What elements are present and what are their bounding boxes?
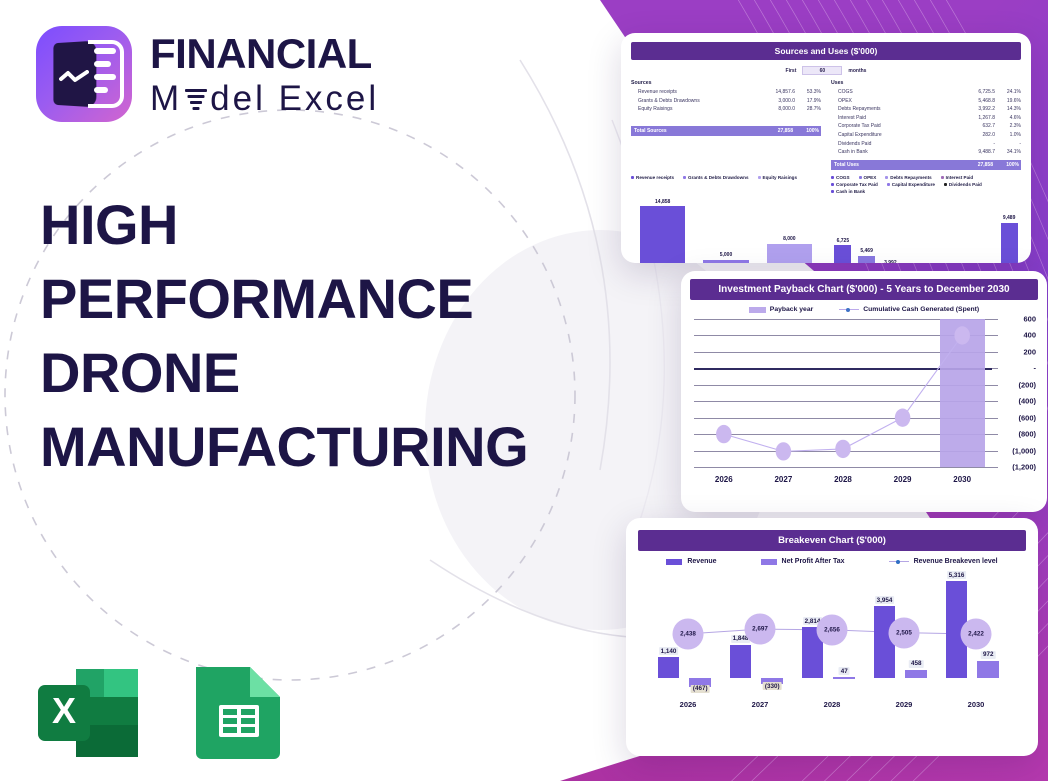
uses-row-pct: 19.6%: [995, 97, 1021, 106]
legend-swatch-icon: [887, 183, 890, 186]
breakeven-level-bubble: 2,505: [889, 617, 920, 648]
bar-value-label: 6,725: [837, 238, 850, 244]
uses-legend-item: Debts Repayments: [885, 175, 931, 180]
brand-lockup: FINANCIAL M del Excel: [36, 26, 379, 122]
card-title-breakeven: Breakeven Chart ($'000): [638, 530, 1026, 551]
sources-row-label: Equity Raisings: [638, 105, 759, 114]
sources-legend-item: Grants & Debts Drawdowns: [683, 175, 749, 180]
net-profit-after-tax-bar: (467): [689, 678, 711, 687]
sources-row-pct: 28.7%: [795, 105, 821, 114]
bar-value-label: 14,858: [655, 199, 670, 205]
card-title-sources-uses: Sources and Uses ($'000): [631, 42, 1021, 60]
breakeven-legend-label: Revenue: [687, 558, 716, 565]
uses-row-pct: 34.1%: [995, 148, 1021, 157]
y-axis-tick: [992, 368, 998, 369]
uses-column: Uses COGS6,725.524.1%OPEX5,468.819.6%Deb…: [831, 80, 1021, 170]
uses-row-label: Debts Repayments: [838, 105, 959, 114]
logo-lines-glyph-icon: [183, 84, 209, 110]
uses-row-amount: 632.7: [959, 122, 995, 131]
legend-bar-swatch-icon: [761, 559, 777, 565]
uses-row-label: Cash in Bank: [838, 148, 959, 157]
uses-row: Debts Repayments3,992.214.3%: [831, 105, 1021, 114]
npat-value-label: 458: [909, 660, 924, 668]
sources-row-label: Revenue receipts: [638, 88, 759, 97]
uses-row: Interest Paid1,267.84.6%: [831, 114, 1021, 123]
x-axis-label: 2027: [724, 700, 796, 709]
payback-legend-item: Cumulative Cash Generated (Spent): [839, 306, 979, 313]
npat-value-label: (330): [763, 682, 782, 690]
bar-column: 6,725: [831, 207, 855, 263]
payback-legend-label: Cumulative Cash Generated (Spent): [863, 306, 979, 313]
y-axis-tick: [992, 352, 998, 353]
uses-legend-item: COGS: [831, 175, 850, 180]
brand-name-bottom-pre: M: [150, 81, 182, 116]
uses-row-pct: -: [995, 140, 1021, 149]
uses-row-pct: 4.6%: [995, 114, 1021, 123]
sources-legend-label: Grants & Debts Drawdowns: [688, 175, 749, 180]
y-axis-tick-label: -: [1034, 364, 1037, 373]
brand-name-bottom: M del Excel: [150, 81, 379, 116]
uses-bar-chart: 6,7255,4693,9921,26863328209,489: [831, 197, 1021, 263]
y-axis-tick-label: (200): [1018, 380, 1036, 389]
revenue-value-label: 5,316: [947, 571, 967, 579]
sources-total-amount: 27,858: [757, 128, 793, 134]
breakeven-legend-label: Revenue Breakeven level: [914, 558, 998, 565]
legend-swatch-icon: [758, 176, 761, 179]
uses-row: Corporate Tax Paid632.72.3%: [831, 122, 1021, 131]
svg-text:X: X: [52, 690, 76, 731]
bar-column: 8,000: [758, 193, 821, 263]
uses-legend-item: Corporate Tax Paid: [831, 182, 878, 187]
payback-legend-label: Payback year: [770, 306, 813, 313]
uses-chart-legend: COGSOPEXDebts RepaymentsInterest PaidCor…: [831, 175, 1021, 194]
npat-value-label: (467): [691, 685, 710, 693]
x-axis-label: 2029: [873, 475, 933, 484]
payback-data-point: [835, 440, 850, 458]
google-sheets-icon[interactable]: [182, 665, 286, 761]
sources-chart-block: Revenue receiptsGrants & Debts Drawdowns…: [631, 175, 821, 263]
uses-row-amount: 282.0: [959, 131, 995, 140]
y-axis-tick: [992, 467, 998, 468]
revenue-bar: 1,140: [658, 657, 680, 678]
y-axis-tick-label: (600): [1018, 413, 1036, 422]
uses-legend-label: Interest Paid: [946, 175, 974, 180]
breakeven-group: 1,848(330)2,697: [724, 569, 796, 691]
uses-row-label: Interest Paid: [838, 114, 959, 123]
brand-name-bottom-post: del Excel: [210, 81, 379, 116]
breakeven-legend-item: Revenue: [666, 558, 716, 565]
period-selector-row: First 60 months: [631, 66, 1021, 75]
x-axis-label: 2030: [932, 475, 992, 484]
period-prefix-label: First: [786, 68, 797, 74]
net-profit-after-tax-bar: 47: [833, 677, 855, 679]
bar-column: 282: [950, 207, 974, 263]
legend-swatch-icon: [941, 176, 944, 179]
npat-value-label: 972: [981, 651, 996, 659]
uses-row-label: OPEX: [838, 97, 959, 106]
legend-swatch-icon: [859, 176, 862, 179]
sources-row: Equity Raisings8,000.028.7%: [631, 105, 821, 114]
uses-row-label: Dividends Paid: [838, 140, 959, 149]
uses-row-amount: 5,468.8: [959, 97, 995, 106]
breakeven-legend-label: Net Profit After Tax: [782, 558, 845, 565]
x-axis-label: 2026: [652, 700, 724, 709]
y-axis-tick-label: (800): [1018, 430, 1036, 439]
sources-column: Sources Revenue receipts14,857.653.3%Gra…: [631, 80, 821, 170]
bar-column: 3,992: [879, 207, 903, 263]
y-axis-tick: [992, 335, 998, 336]
legend-bar-swatch-icon: [666, 559, 682, 565]
slide-canvas: FINANCIAL M del Excel HIGH PERFORMANCE D…: [0, 0, 1048, 781]
payback-chart-legend: Payback yearCumulative Cash Generated (S…: [690, 306, 1038, 313]
payback-y-axis: 600400200-(200)(400)(600)(800)(1,000)(1,…: [992, 319, 1036, 467]
uses-row: Cash in Bank9,488.734.1%: [831, 148, 1021, 157]
microsoft-excel-icon[interactable]: X: [36, 665, 140, 761]
bar-value-label: 8,000: [783, 236, 796, 242]
breakeven-group: 1,140(467)2,438: [652, 569, 724, 691]
cumulative-cash-line: [694, 319, 992, 467]
y-axis-tick-label: (1,200): [1012, 463, 1036, 472]
x-axis-label: 2029: [868, 700, 940, 709]
breakeven-chart-plot: 1,140(467)2,4381,848(330)2,6972,814472,6…: [652, 569, 1012, 691]
sources-total-pct: 100%: [793, 128, 819, 134]
sources-row: Grants & Debts Drawdowns3,000.017.9%: [631, 97, 821, 106]
y-axis-tick-label: 400: [1023, 331, 1036, 340]
legend-swatch-icon: [631, 176, 634, 179]
sources-header: Sources: [631, 80, 821, 86]
breakeven-card[interactable]: Breakeven Chart ($'000) RevenueNet Profi…: [626, 518, 1038, 756]
breakeven-level-bubble: 2,656: [817, 614, 848, 645]
sources-rows: Revenue receipts14,857.653.3%Grants & De…: [631, 88, 821, 114]
uses-total-pct: 100%: [993, 162, 1019, 168]
uses-rows: COGS6,725.524.1%OPEX5,468.819.6%Debts Re…: [831, 88, 1021, 157]
uses-row-amount: 1,267.8: [959, 114, 995, 123]
payback-x-axis-labels: 20262027202820292030: [694, 475, 992, 484]
uses-row-pct: 14.3%: [995, 105, 1021, 114]
legend-bar-swatch-icon: [749, 307, 766, 313]
spark-line-icon: [59, 70, 89, 84]
sources-legend-item: Revenue receipts: [631, 175, 674, 180]
period-months-input[interactable]: 60: [802, 66, 842, 75]
bar-column: 9,489: [997, 207, 1021, 263]
uses-legend-label: Capital Expenditure: [892, 182, 935, 187]
y-axis-tick: [992, 401, 998, 402]
breakeven-group: 3,9544582,505: [868, 569, 940, 691]
sources-chart-legend: Revenue receiptsGrants & Debts Drawdowns…: [631, 175, 821, 180]
breakeven-group: 5,3169722,422: [940, 569, 1012, 691]
page-title: HIGH PERFORMANCE DRONE MANUFACTURING: [40, 188, 540, 484]
payback-data-point: [776, 442, 791, 460]
net-profit-after-tax-bar: (330): [761, 678, 783, 684]
revenue-value-label: 3,954: [875, 596, 895, 604]
card-title-payback: Investment Payback Chart ($'000) - 5 Yea…: [690, 279, 1038, 300]
sources-row-label: Grants & Debts Drawdowns: [638, 97, 759, 106]
breakeven-level-bubble: 2,438: [673, 618, 704, 649]
x-axis-label: 2027: [754, 475, 814, 484]
legend-swatch-icon: [885, 176, 888, 179]
bar-column: 1,268: [902, 207, 926, 263]
sources-and-uses-card[interactable]: Sources and Uses ($'000) First 60 months…: [621, 33, 1031, 263]
payback-data-point: [895, 408, 910, 426]
y-axis-tick: [992, 451, 998, 452]
bar-column: 633: [926, 207, 950, 263]
uses-legend-item: Cash in Bank: [831, 189, 865, 194]
sources-legend-label: Revenue receipts: [636, 175, 674, 180]
sources-bar-chart: 14,8585,0008,000: [631, 183, 821, 263]
logo-lines-icon: [94, 48, 120, 102]
uses-row-pct: 24.1%: [995, 88, 1021, 97]
payback-legend-item: Payback year: [749, 306, 813, 313]
uses-row-amount: -: [959, 140, 995, 149]
legend-swatch-icon: [831, 190, 834, 193]
bar-value-label: 5,469: [860, 248, 873, 254]
payback-chart-plot: 600400200-(200)(400)(600)(800)(1,000)(1,…: [694, 319, 992, 467]
brand-name-top: FINANCIAL: [150, 33, 379, 75]
revenue-bar: 1,848: [730, 645, 752, 679]
bar: [640, 206, 686, 263]
uses-row-pct: 1.0%: [995, 131, 1021, 140]
uses-row-amount: 3,992.2: [959, 105, 995, 114]
y-axis-tick-label: 200: [1023, 347, 1036, 356]
breakeven-level-bubble: 2,697: [745, 614, 776, 645]
bar-value-label: 9,489: [1003, 215, 1016, 221]
financial-model-document-icon: [36, 26, 132, 122]
uses-total-label: Total Uses: [834, 162, 957, 168]
investment-payback-card[interactable]: Investment Payback Chart ($'000) - 5 Yea…: [681, 271, 1047, 512]
x-axis-label: 2030: [940, 700, 1012, 709]
sources-total-label: Total Sources: [634, 128, 757, 134]
file-format-icons: X: [36, 665, 286, 761]
uses-row: Dividends Paid--: [831, 140, 1021, 149]
legend-swatch-icon: [831, 183, 834, 186]
legend-line-swatch-icon: [839, 307, 859, 313]
y-axis-tick-label: (1,000): [1012, 446, 1036, 455]
uses-chart-block: COGSOPEXDebts RepaymentsInterest PaidCor…: [831, 175, 1021, 263]
uses-row-label: Capital Expenditure: [838, 131, 959, 140]
x-axis-label: 2026: [694, 475, 754, 484]
y-axis-tick-label: 600: [1023, 315, 1036, 324]
bar-column: 14,858: [631, 193, 694, 263]
breakeven-x-axis-labels: 20262027202820292030: [652, 700, 1012, 709]
uses-legend-label: Debts Repayments: [890, 175, 931, 180]
sources-spacer: [631, 114, 821, 123]
bar-column: 5,000: [694, 193, 757, 263]
uses-row: OPEX5,468.819.6%: [831, 97, 1021, 106]
x-axis-label: 2028: [813, 475, 873, 484]
uses-legend-item: Capital Expenditure: [887, 182, 935, 187]
uses-row-pct: 2.3%: [995, 122, 1021, 131]
payback-line-path: [724, 335, 962, 451]
uses-legend-label: OPEX: [864, 175, 877, 180]
uses-total-row: Total Uses 27,858 100%: [831, 160, 1021, 170]
sources-legend-item: Equity Raisings: [758, 175, 797, 180]
uses-header: Uses: [831, 80, 1021, 86]
net-profit-after-tax-bar: 972: [977, 661, 999, 679]
breakeven-chart-legend: RevenueNet Profit After TaxRevenue Break…: [638, 558, 1026, 565]
breakeven-group: 2,814472,656: [796, 569, 868, 691]
sources-row-pct: 53.3%: [795, 88, 821, 97]
legend-swatch-icon: [944, 183, 947, 186]
sources-row: Revenue receipts14,857.653.3%: [631, 88, 821, 97]
uses-legend-item: Interest Paid: [941, 175, 974, 180]
payback-data-point: [716, 425, 731, 443]
uses-row-amount: 9,488.7: [959, 148, 995, 157]
uses-total-amount: 27,858: [957, 162, 993, 168]
bar-value-label: 3,992: [884, 260, 897, 263]
uses-legend-label: Dividends Paid: [949, 182, 982, 187]
uses-row-label: Corporate Tax Paid: [838, 122, 959, 131]
breakeven-level-bubble: 2,422: [961, 619, 992, 650]
sources-row-amount: 3,000.0: [759, 97, 795, 106]
revenue-value-label: 1,140: [659, 647, 679, 655]
breakeven-legend-item: Revenue Breakeven level: [889, 558, 998, 565]
sources-row-amount: 14,857.6: [759, 88, 795, 97]
uses-row: Capital Expenditure282.01.0%: [831, 131, 1021, 140]
bar-value-label: 5,000: [720, 252, 733, 258]
bar: [834, 245, 851, 263]
legend-line-swatch-icon: [889, 559, 909, 565]
breakeven-legend-item: Net Profit After Tax: [761, 558, 845, 565]
y-axis-tick: [992, 434, 998, 435]
bar-column: 0: [974, 207, 998, 263]
y-axis-tick-label: (400): [1018, 397, 1036, 406]
y-axis-tick: [992, 418, 998, 419]
uses-legend-label: COGS: [836, 175, 850, 180]
uses-legend-item: Dividends Paid: [944, 182, 982, 187]
bar: [767, 244, 813, 263]
uses-row: COGS6,725.524.1%: [831, 88, 1021, 97]
x-axis-label: 2028: [796, 700, 868, 709]
sources-total-row: Total Sources 27,858 100%: [631, 126, 821, 136]
y-axis-tick: [992, 319, 998, 320]
y-axis-tick: [992, 385, 998, 386]
bar-column: 5,469: [855, 207, 879, 263]
payback-data-point: [954, 326, 969, 344]
uses-legend-label: Cash in Bank: [836, 189, 865, 194]
bar: [858, 256, 875, 263]
sources-legend-label: Equity Raisings: [763, 175, 797, 180]
bar: [1001, 223, 1018, 263]
legend-swatch-icon: [683, 176, 686, 179]
uses-legend-item: OPEX: [859, 175, 877, 180]
gridline: [694, 467, 992, 468]
uses-row-label: COGS: [838, 88, 959, 97]
legend-swatch-icon: [831, 176, 834, 179]
period-suffix-label: months: [848, 68, 866, 74]
bar: [703, 260, 749, 263]
sources-row-amount: 8,000.0: [759, 105, 795, 114]
sources-row-pct: 17.9%: [795, 97, 821, 106]
npat-value-label: 47: [839, 667, 850, 675]
net-profit-after-tax-bar: 458: [905, 670, 927, 678]
uses-row-amount: 6,725.5: [959, 88, 995, 97]
uses-legend-label: Corporate Tax Paid: [836, 182, 878, 187]
